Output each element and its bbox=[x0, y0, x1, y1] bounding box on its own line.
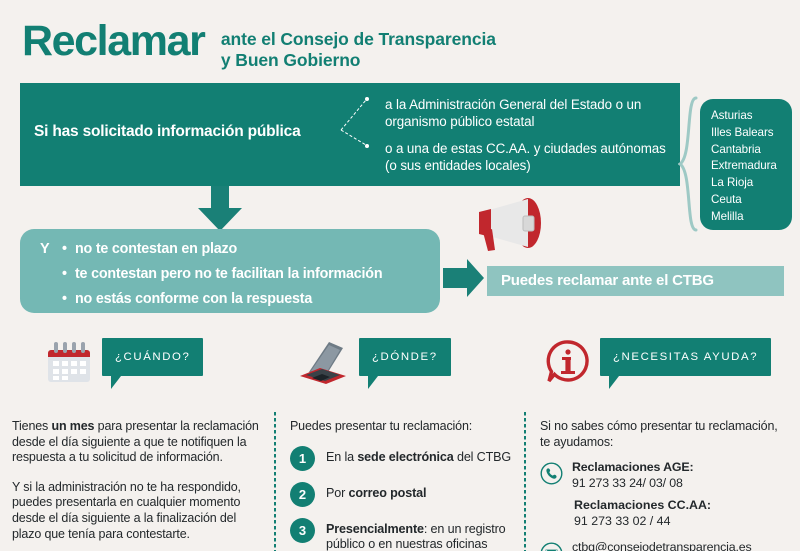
bullet-icon: • bbox=[62, 266, 75, 282]
contact-ccaa: Reclamaciones CC.AA: 91 273 33 02 / 44 bbox=[574, 498, 792, 529]
arrow-down-icon bbox=[196, 186, 244, 232]
section-header-where: ¿DÓNDE? bbox=[296, 338, 451, 400]
section-header-when: ¿CUÁNDO? bbox=[45, 338, 203, 400]
bubble-help: ¿NECESITAS AYUDA? bbox=[600, 338, 771, 376]
result-banner: Puedes reclamar ante el CTBG bbox=[487, 266, 784, 296]
text-run-bold: sede electrónica bbox=[357, 450, 453, 464]
infographic-page: Reclamar ante el Consejo de Transparenci… bbox=[0, 0, 800, 551]
contact-age-value: 91 273 33 24/ 03/ 08 bbox=[572, 476, 683, 490]
destination-ccaa: o a una de estas CC.AA. y ciudades autón… bbox=[385, 140, 680, 174]
requirement-item: •no te contestan en plazo bbox=[62, 241, 237, 257]
list-item: 1 En la sede electrónica del CTBG bbox=[290, 446, 518, 471]
list-item: 3 Presencialmente: en un registro públic… bbox=[290, 518, 518, 551]
contact-ccaa-value: 91 273 33 02 / 44 bbox=[574, 514, 670, 528]
laptop-icon bbox=[296, 338, 350, 386]
column-help: Si no sabes cómo presentar tu reclamació… bbox=[540, 419, 792, 551]
requirement-item: •te contestan pero no te facilitan la in… bbox=[62, 266, 382, 282]
section-header-help: ¿NECESITAS AYUDA? bbox=[545, 338, 771, 400]
curly-brace-icon bbox=[678, 96, 700, 232]
step-number: 2 bbox=[290, 482, 315, 507]
page-title: Reclamar bbox=[22, 18, 204, 64]
bubble-where-label: ¿DÓNDE? bbox=[372, 338, 438, 376]
where-intro: Puedes presentar tu reclamación: bbox=[290, 419, 518, 435]
bubble-where: ¿DÓNDE? bbox=[359, 338, 451, 376]
help-intro: Si no sabes cómo presentar tu reclamació… bbox=[540, 419, 792, 450]
bubble-help-label: ¿NECESITAS AYUDA? bbox=[613, 338, 758, 376]
arrow-right-icon bbox=[443, 259, 485, 299]
requirement-label: no te contestan en plazo bbox=[75, 241, 237, 257]
contact-email-row: ctbg@consejodetransparencia.es bbox=[540, 540, 792, 551]
contact-phone-row: Reclamaciones AGE: 91 273 33 24/ 03/ 08 bbox=[540, 460, 792, 491]
column-where: Puedes presentar tu reclamación: 1 En la… bbox=[290, 419, 518, 551]
text-run-bold: Presencialmente bbox=[326, 522, 424, 536]
contact-age: Reclamaciones AGE: 91 273 33 24/ 03/ 08 bbox=[572, 460, 694, 491]
bullet-icon: • bbox=[62, 241, 75, 257]
text-run: Tienes bbox=[12, 419, 51, 433]
branch-connector-icon bbox=[340, 95, 386, 165]
bubble-when-label: ¿CUÁNDO? bbox=[115, 338, 190, 376]
ccaa-item: Ceuta bbox=[711, 192, 792, 209]
ccaa-item: Extremadura bbox=[711, 158, 792, 175]
page-subtitle-line2: y Buen Gobierno bbox=[221, 50, 360, 70]
requirements-box: Y •no te contestan en plazo •te contesta… bbox=[20, 229, 440, 313]
step-label: En la sede electrónica del CTBG bbox=[326, 446, 511, 466]
step-number: 3 bbox=[290, 518, 315, 543]
contact-ccaa-label: Reclamaciones CC.AA: bbox=[574, 498, 711, 512]
column-divider bbox=[524, 412, 526, 551]
destination-age: a la Administración General del Estado o… bbox=[385, 96, 680, 130]
conjunction-label: Y bbox=[40, 241, 50, 257]
ccaa-list-box: Asturias Illes Balears Cantabria Extrema… bbox=[700, 99, 792, 230]
column-when: Tienes un mes para presentar la reclamac… bbox=[12, 419, 267, 542]
result-banner-label: Puedes reclamar ante el CTBG bbox=[501, 272, 714, 289]
bullet-icon: • bbox=[62, 291, 75, 307]
ccaa-item: La Rioja bbox=[711, 175, 792, 192]
step-number: 1 bbox=[290, 446, 315, 471]
when-paragraph-1: Tienes un mes para presentar la reclamac… bbox=[12, 419, 267, 466]
list-item: 2 Por correo postal bbox=[290, 482, 518, 507]
condition-box-label: Si has solicitado información pública bbox=[34, 123, 354, 141]
requirement-item: •no estás conforme con la respuesta bbox=[62, 291, 312, 307]
text-run: Por bbox=[326, 486, 349, 500]
step-label: Por correo postal bbox=[326, 482, 426, 502]
info-bubble-icon bbox=[545, 338, 591, 386]
requirement-label: te contestan pero no te facilitan la inf… bbox=[75, 266, 382, 282]
envelope-icon bbox=[540, 540, 563, 551]
help-intro-line1: Si no sabes cómo presentar tu reclamació… bbox=[540, 419, 778, 433]
megaphone-icon bbox=[473, 196, 545, 254]
text-run: En la bbox=[326, 450, 357, 464]
contact-email-value: ctbg@consejodetransparencia.es bbox=[572, 540, 752, 551]
text-run: del CTBG bbox=[454, 450, 511, 464]
bubble-when: ¿CUÁNDO? bbox=[102, 338, 203, 376]
ccaa-item: Cantabria bbox=[711, 142, 792, 159]
requirement-label: no estás conforme con la respuesta bbox=[75, 291, 312, 307]
when-paragraph-2: Y si la administración no te ha respondi… bbox=[12, 480, 267, 542]
step-label: Presencialmente: en un registro público … bbox=[326, 518, 518, 551]
text-run-bold: correo postal bbox=[349, 486, 427, 500]
ccaa-item: Asturias bbox=[711, 108, 792, 125]
ccaa-item: Melilla bbox=[711, 209, 792, 226]
text-run-bold: un mes bbox=[51, 419, 94, 433]
phone-icon bbox=[540, 460, 563, 490]
help-intro-line2: te ayudamos: bbox=[540, 435, 613, 449]
contact-age-label: Reclamaciones AGE: bbox=[572, 460, 694, 474]
ccaa-item: Illes Balears bbox=[711, 125, 792, 142]
calendar-icon bbox=[45, 338, 93, 386]
page-header: Reclamar ante el Consejo de Transparenci… bbox=[22, 18, 782, 80]
column-divider bbox=[274, 412, 276, 551]
page-subtitle: ante el Consejo de Transparencia y Buen … bbox=[221, 29, 496, 71]
page-subtitle-line1: ante el Consejo de Transparencia bbox=[221, 29, 496, 49]
